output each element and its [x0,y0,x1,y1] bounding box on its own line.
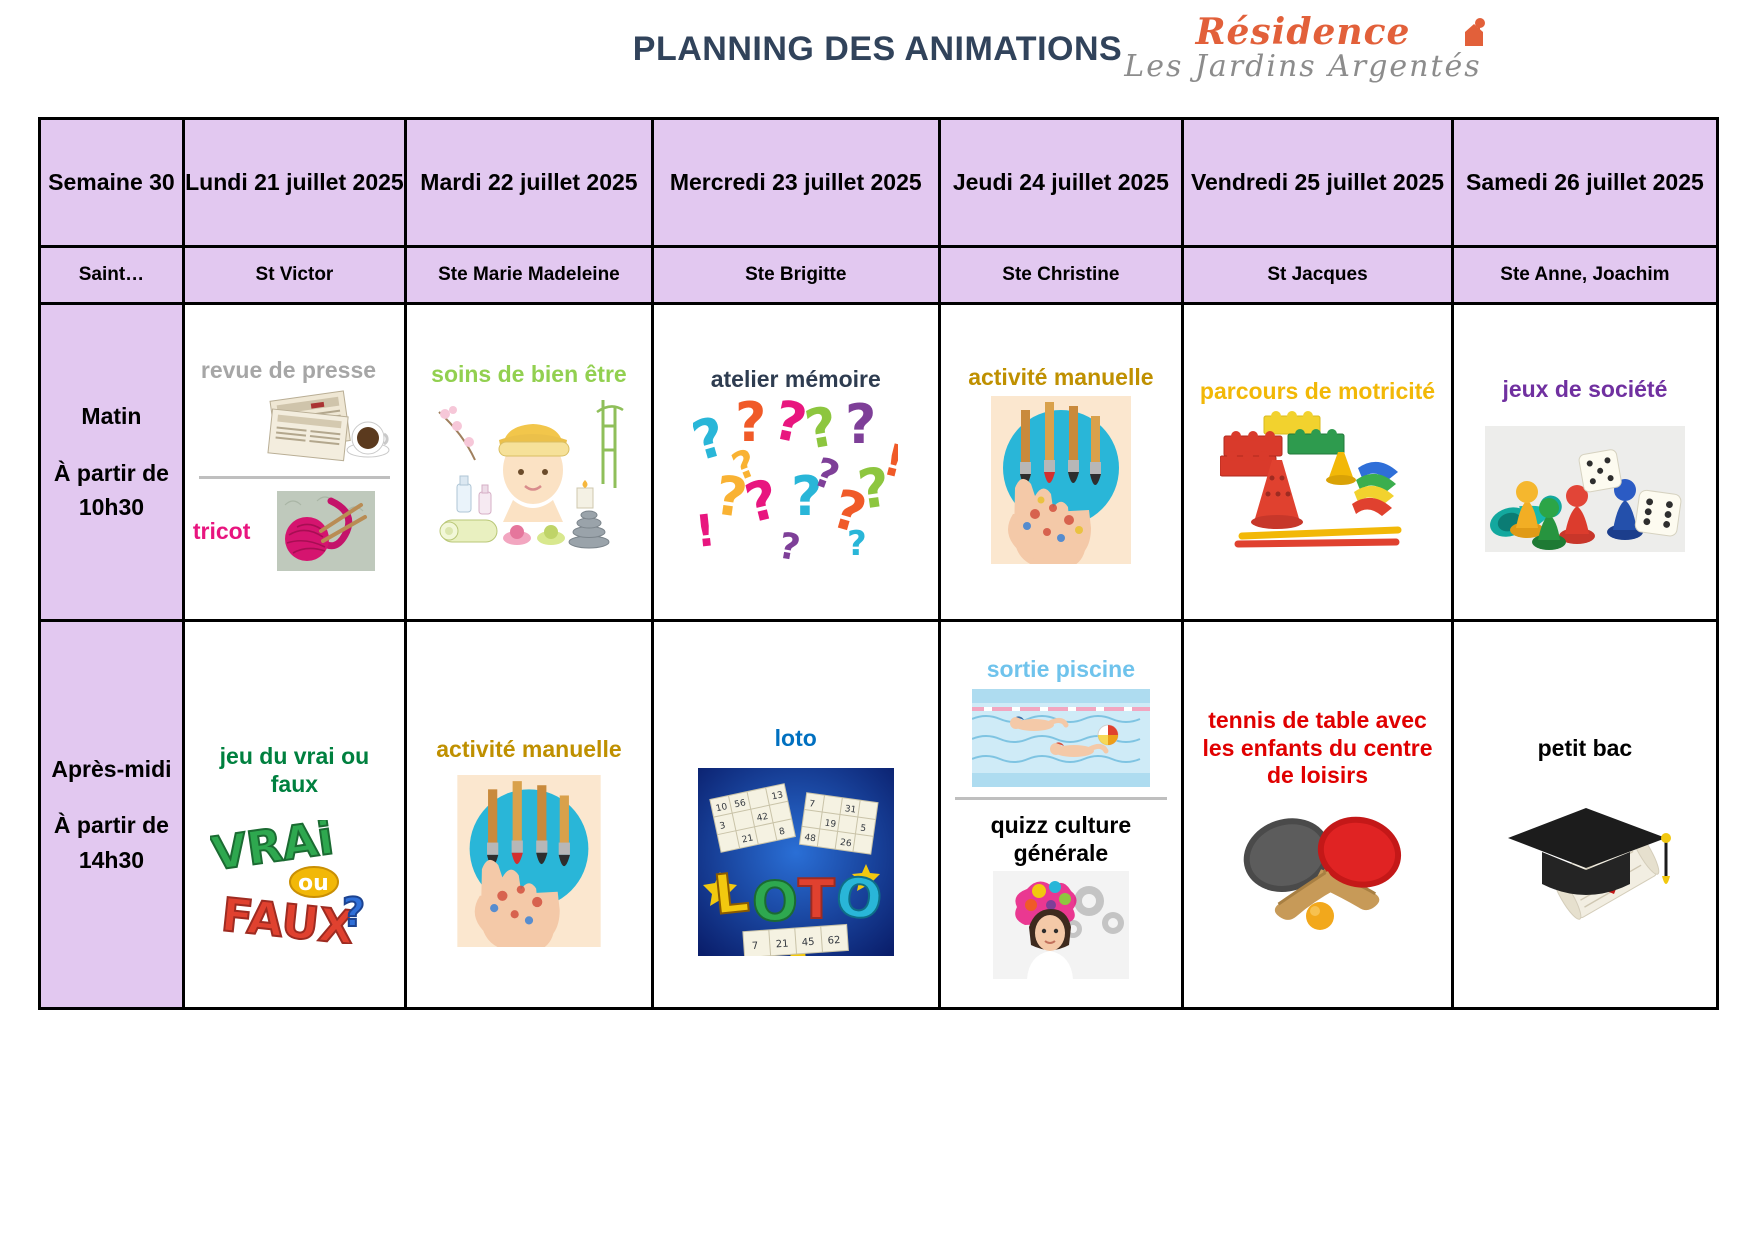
svg-text:48: 48 [803,833,816,845]
svg-text:7: 7 [751,941,758,952]
svg-text:?: ? [845,397,876,456]
cell-morning-monday[interactable]: revue de presse [183,304,405,621]
svg-text:?: ? [693,405,733,474]
spa-wellness-illustration [427,392,631,567]
logo-line-jardins: Les Jardins Argentés [1123,52,1483,82]
motor-skills-cones-bricks-image [1220,410,1416,550]
saint-saturday: Ste Anne, Joachim [1452,247,1717,304]
svg-text:ou: ou [298,871,329,896]
period-time-afternoon: À partir de 14h30 [41,808,182,877]
swimming-pool-illustration [972,689,1150,787]
svg-text:19: 19 [824,819,837,831]
saint-thursday: Ste Christine [939,247,1183,304]
saint-tuesday: Ste Marie Madeleine [405,247,652,304]
svg-text:26: 26 [839,838,852,850]
activity-activite-manuelle-apresmidi: activité manuelle [415,736,643,764]
cell-afternoon-wednesday[interactable]: loto [652,621,939,1009]
morning-row: Matin À partir de 10h30 revue de presse [40,304,1718,621]
loto-cards-image: 105613 342 218 731 195 [698,768,894,956]
cell-morning-wednesday[interactable]: atelier mémoire ? ? ? ? ? ? ? ? ? ? ? [652,304,939,621]
cell-morning-thursday[interactable]: activité manuelle [939,304,1183,621]
activity-atelier-memoire: atelier mémoire [662,366,930,394]
svg-text:?: ? [847,524,867,562]
activity-jeu-du-vrai-ou-faux: jeu du vrai ou faux [193,743,396,798]
activity-sortie-piscine: sortie piscine [949,656,1174,684]
activity-soins-de-bien-etre: soins de bien être [415,361,643,389]
cell-afternoon-tuesday[interactable]: activité manuelle [405,621,652,1009]
svg-text:?: ? [342,890,365,936]
painted-hands-brushes-image [456,775,602,947]
activity-jeux-de-societe: jeux de société [1462,376,1708,404]
activity-petit-bac: petit bac [1462,735,1708,763]
period-name-morning: Matin [41,399,182,434]
table-header-row: Semaine 30 Lundi 21 juillet 2025 Mardi 2… [40,119,1718,247]
svg-text:21: 21 [775,939,788,951]
cell-divider [955,797,1168,800]
activity-revue-de-presse: revue de presse [193,357,396,385]
tree-house-icon [1459,16,1489,50]
woman-thinking-gears-image [993,871,1129,979]
cell-afternoon-monday[interactable]: jeu du vrai ou faux VRAi ou FAUX ? [183,621,405,1009]
week-number-cell: Semaine 30 [40,119,184,247]
pink-yarn-knitting-image [277,491,375,571]
day-header-friday: Vendredi 25 juillet 2025 [1183,119,1453,247]
newspapers-coffee-image [264,388,392,466]
graduation-cap-diploma-image [1490,792,1680,940]
day-header-monday: Lundi 21 juillet 2025 [183,119,405,247]
logo-line-residence: Résidence [1123,14,1483,50]
ping-pong-paddles-image [1212,804,1424,954]
activity-loto: loto [662,725,930,753]
period-time-morning: À partir de 10h30 [41,456,182,525]
svg-text:FAUX: FAUX [219,887,357,944]
activity-activite-manuelle-matin: activité manuelle [949,364,1174,392]
cell-afternoon-friday[interactable]: tennis de table avec les enfants du cent… [1183,621,1453,1009]
svg-text:45: 45 [801,937,814,949]
day-header-thursday: Jeudi 24 juillet 2025 [939,119,1183,247]
cell-morning-friday[interactable]: parcours de motricité [1183,304,1453,621]
period-label-afternoon: Après-midi À partir de 14h30 [40,621,184,1009]
saint-monday: St Victor [183,247,405,304]
residence-logo: Résidence Les Jardins Argentés [1123,14,1483,96]
page-title: PLANNING DES ANIMATIONS [0,30,1755,69]
svg-text:L: L [711,861,752,927]
activity-tricot: tricot [193,518,251,546]
board-game-pawns-dice-image [1485,426,1685,552]
period-name-afternoon: Après-midi [41,752,182,787]
cell-afternoon-saturday[interactable]: petit bac [1452,621,1717,1009]
svg-text:62: 62 [827,935,840,947]
svg-text:O: O [832,865,885,933]
day-header-tuesday: Mardi 22 juillet 2025 [405,119,652,247]
day-header-wednesday: Mercredi 23 juillet 2025 [652,119,939,247]
period-label-morning: Matin À partir de 10h30 [40,304,184,621]
activities-planning-table: Semaine 30 Lundi 21 juillet 2025 Mardi 2… [38,117,1719,1010]
activity-tennis-de-table: tennis de table avec les enfants du cent… [1192,707,1443,790]
svg-text:?: ? [776,526,804,563]
page-header: PLANNING DES ANIMATIONS Résidence Les Ja… [0,0,1755,105]
cell-morning-tuesday[interactable]: soins de bien être [405,304,652,621]
saints-row: Saint… St Victor Ste Marie Madeleine Ste… [40,247,1718,304]
cell-afternoon-thursday[interactable]: sortie piscine [939,621,1183,1009]
activity-quizz-culture-generale: quizz culture générale [949,812,1174,867]
vrai-ou-faux-logo-image: VRAi ou FAUX ? [210,820,378,944]
saint-label-cell: Saint… [40,247,184,304]
saint-wednesday: Ste Brigitte [652,247,939,304]
cell-divider [199,476,390,479]
colorful-question-marks-image: ? ? ? ? ? ? ? ? ? ? ? ? ? ? [693,397,898,562]
svg-text:T: T [798,868,835,931]
svg-text:O: O [752,870,798,933]
painted-hands-brushes-image [991,396,1131,564]
cell-morning-saturday[interactable]: jeux de société [1452,304,1717,621]
saint-friday: St Jacques [1183,247,1453,304]
svg-text:31: 31 [844,804,857,815]
activity-parcours-de-motricite: parcours de motricité [1192,378,1443,406]
day-header-saturday: Samedi 26 juillet 2025 [1452,119,1717,247]
afternoon-row: Après-midi À partir de 14h30 jeu du vrai… [40,621,1718,1009]
